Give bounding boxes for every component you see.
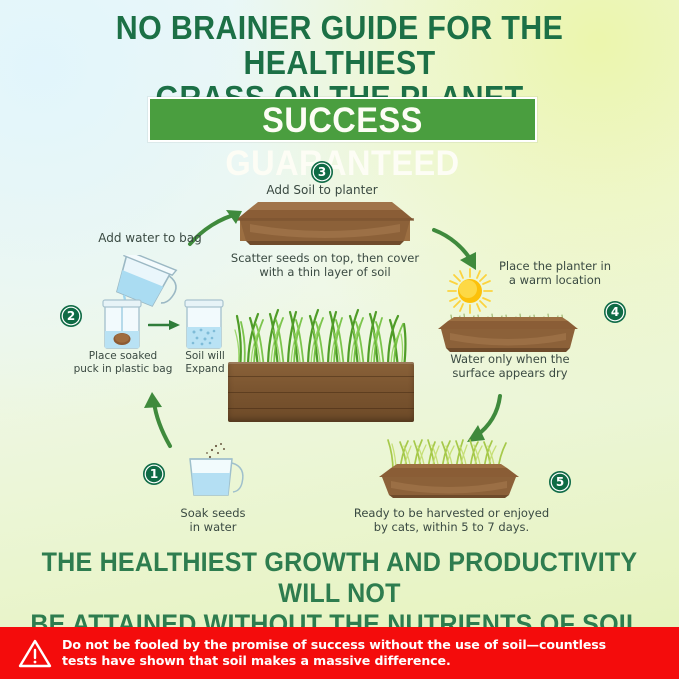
warning-line-1: Do not be fooled by the promise of succe… xyxy=(62,637,606,653)
step-1-measuring-cup-icon xyxy=(176,441,252,503)
step-5-caption-line-2: by cats, within 5 to 7 days. xyxy=(374,520,529,534)
step-2-bag-soaked-puck-icon xyxy=(100,298,144,350)
center-planter-box-icon xyxy=(228,362,414,422)
center-planter-unit xyxy=(228,300,414,422)
step-4-planter-icon xyxy=(438,310,578,354)
step-2-caption2-line-2: Expand xyxy=(185,363,224,375)
warning-line-2: tests have shown that soil makes a massi… xyxy=(62,653,606,669)
step-4-title: Place the planter in a warm location xyxy=(480,259,630,287)
sun-icon xyxy=(447,268,493,314)
step-badge-4: 4 xyxy=(604,301,626,323)
step-1-caption-line-2: in water xyxy=(190,520,237,534)
banner-label: SUCCESS GUARANTEED xyxy=(163,99,521,185)
step-4-title-line-1: Place the planter in xyxy=(499,259,611,273)
step-5-planter-icon xyxy=(375,437,523,499)
step-4-caption: Water only when the surface appears dry xyxy=(440,352,580,380)
step-3-caption-line-2: with a thin layer of soil xyxy=(259,265,390,279)
step-5-caption-line-1: Ready to be harvested or enjoyed xyxy=(354,506,549,520)
step-1-caption: Soak seeds in water xyxy=(158,506,268,534)
arrow-step1-to-step2 xyxy=(132,388,188,450)
step-4-title-line-2: a warm location xyxy=(509,273,601,287)
step-3-caption-line-1: Scatter seeds on top, then cover xyxy=(231,251,419,265)
center-grass-icon xyxy=(234,300,408,368)
step-1-caption-line-1: Soak seeds xyxy=(180,506,245,520)
step-2-caption-line-1: Place soaked xyxy=(89,350,157,362)
step-2-caption: Place soaked puck in plastic bag xyxy=(68,350,178,376)
step-3-title: Add Soil to planter xyxy=(232,183,412,197)
bottom-statement-line-1: THE HEALTHIEST GROWTH AND PRODUCTIVITY W… xyxy=(24,547,655,609)
step-2-caption2-line-1: Soil will xyxy=(185,350,225,362)
step-badge-1: 1 xyxy=(143,463,165,485)
step-3-caption: Scatter seeds on top, then cover with a … xyxy=(215,251,435,279)
warning-triangle-icon xyxy=(18,638,52,669)
success-guaranteed-banner: SUCCESS GUARANTEED xyxy=(148,97,537,142)
step-4-caption-line-2: surface appears dry xyxy=(452,366,567,380)
arrow-bag-to-expanded xyxy=(148,318,182,332)
step-badge-2: 2 xyxy=(60,305,82,327)
headline-line-1: NO BRAINER GUIDE FOR THE HEALTHIEST xyxy=(27,10,652,80)
infographic-canvas: NO BRAINER GUIDE FOR THE HEALTHIEST GRAS… xyxy=(0,0,679,679)
warning-text: Do not be fooled by the promise of succe… xyxy=(62,637,606,669)
step-2-title: Add water to bag xyxy=(60,231,240,245)
step-4-caption-line-1: Water only when the xyxy=(450,352,569,366)
step-3-planter-icon xyxy=(236,198,414,248)
step-badge-5: 5 xyxy=(549,471,571,493)
warning-banner: Do not be fooled by the promise of succe… xyxy=(0,627,679,679)
step-5-caption: Ready to be harvested or enjoyed by cats… xyxy=(344,506,559,534)
step-2-bag-expanded-soil-icon xyxy=(182,298,226,350)
step-2-caption-line-2: puck in plastic bag xyxy=(74,363,173,375)
step-badge-3: 3 xyxy=(311,161,333,183)
